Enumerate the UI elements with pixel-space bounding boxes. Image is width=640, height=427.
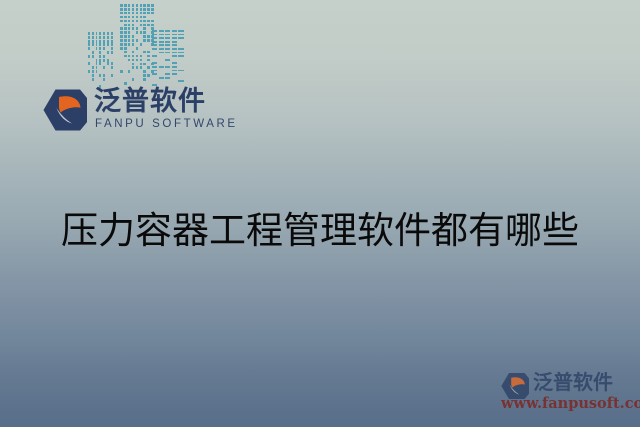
skyline-pixel (143, 12, 146, 15)
skyline-pixel (136, 47, 139, 50)
skyline-pixel (96, 32, 98, 35)
skyline-pixel (88, 62, 90, 65)
skyline-pixel (178, 55, 183, 57)
skyline-pixel (147, 74, 150, 77)
skyline-pixel (128, 43, 131, 46)
skyline-pixel (120, 20, 123, 23)
skyline-pixel (124, 12, 127, 15)
skyline-pixel (124, 31, 127, 34)
skyline-pixel (140, 59, 143, 62)
skyline-pixel (159, 41, 164, 43)
skyline-pixel (92, 51, 94, 54)
skyline-pixel (96, 43, 98, 46)
skyline-pixel (107, 32, 109, 35)
skyline-pixel (172, 37, 177, 39)
skyline-pixel (92, 43, 94, 46)
skyline-pixel (159, 30, 164, 32)
skyline-pixel (128, 39, 131, 42)
skyline-pixel (124, 51, 127, 54)
skyline-pixel (172, 73, 177, 75)
brand-logo-lockup: 泛普软件 FANPU SOFTWARE (42, 86, 222, 138)
skyline-pixel (111, 43, 113, 46)
skyline-pixel (147, 66, 150, 69)
skyline-pixel (103, 59, 105, 62)
skyline-pixel (111, 32, 113, 35)
skyline-pixel (128, 16, 131, 19)
skyline-pixel (147, 8, 150, 11)
skyline-pixel (124, 39, 127, 42)
skyline-pixel (132, 39, 135, 42)
skyline-pixel (136, 12, 139, 15)
skyline-pixel (120, 39, 123, 42)
skyline-pixel (120, 27, 123, 30)
skyline-pixel (143, 20, 146, 23)
skyline-pixel (99, 36, 101, 39)
skyline-pixel (152, 30, 157, 32)
skyline-pixel (151, 4, 154, 7)
pixel-city-skyline-graphic (86, 2, 188, 88)
skyline-pixel (128, 24, 131, 27)
skyline-pixel (103, 40, 105, 43)
skyline-pixel (111, 51, 113, 54)
skyline-pixel (128, 70, 131, 73)
skyline-pixel (152, 70, 157, 72)
skyline-pixel (111, 47, 113, 50)
skyline-pixel (136, 27, 139, 30)
skyline-pixel (103, 55, 105, 58)
skyline-pixel (159, 66, 164, 68)
page-title: 压力容器工程管理软件都有哪些 (0, 207, 640, 255)
skyline-pixel (111, 36, 113, 39)
skyline-pixel (132, 4, 135, 7)
skyline-pixel (111, 40, 113, 43)
skyline-pixel (107, 51, 109, 54)
skyline-pixel (103, 78, 105, 81)
skyline-pixel (128, 55, 131, 58)
skyline-pixel (140, 12, 143, 15)
skyline-pixel (143, 51, 146, 54)
skyline-pixel (96, 40, 98, 43)
skyline-pixel (132, 12, 135, 15)
skyline-pixel (88, 40, 90, 43)
skyline-pixel (172, 70, 177, 72)
skyline-pixel (128, 20, 131, 23)
skyline-pixel (152, 34, 157, 36)
skyline-pixel (136, 55, 139, 58)
watermark: 泛普软件 www.fanpusoft.com (500, 370, 636, 418)
skyline-pixel (165, 66, 170, 68)
skyline-pixel (140, 43, 143, 46)
poster-canvas: 泛普软件 FANPU SOFTWARE 压力容器工程管理软件都有哪些 泛普软件 … (0, 0, 640, 427)
skyline-pixel (140, 16, 143, 19)
skyline-pixel (124, 24, 127, 27)
skyline-pixel (107, 43, 109, 46)
skyline-pixel (172, 48, 177, 50)
skyline-pixel (96, 62, 98, 65)
skyline-pixel (128, 12, 131, 15)
skyline-pixel (132, 16, 135, 19)
skyline-pixel (172, 52, 177, 54)
skyline-pixel (152, 37, 157, 39)
skyline-pixel (132, 66, 135, 69)
skyline-pixel (178, 70, 183, 72)
skyline-pixel (107, 59, 109, 62)
skyline-pixel (178, 80, 183, 82)
skyline-pixel (147, 59, 150, 62)
skyline-pixel (151, 20, 154, 23)
skyline-pixel (143, 8, 146, 11)
skyline-pixel (99, 47, 101, 50)
skyline-pixel (103, 36, 105, 39)
skyline-pixel (159, 52, 164, 54)
skyline-pixel (172, 55, 177, 57)
skyline-pixel (159, 37, 164, 39)
skyline-pixel (152, 55, 157, 57)
skyline-pixel (120, 4, 123, 7)
skyline-pixel (165, 77, 170, 79)
skyline-pixel (178, 52, 183, 54)
skyline-pixel (172, 30, 177, 32)
skyline-pixel (143, 24, 146, 27)
skyline-pixel (124, 4, 127, 7)
skyline-pixel (92, 74, 94, 77)
skyline-pixel (178, 37, 183, 39)
skyline-pixel (136, 66, 139, 69)
skyline-pixel (99, 74, 101, 77)
skyline-pixel (140, 24, 143, 27)
skyline-pixel (152, 66, 157, 68)
skyline-pixel (124, 43, 127, 46)
skyline-pixel (88, 47, 90, 50)
skyline-pixel (124, 82, 127, 85)
skyline-pixel (88, 36, 90, 39)
skyline-pixel (140, 31, 143, 34)
skyline-pixel (96, 47, 98, 50)
skyline-pixel (120, 70, 123, 73)
skyline-pixel (92, 70, 94, 73)
skyline-pixel (143, 31, 146, 34)
skyline-pixel (140, 66, 143, 69)
skyline-pixel (88, 32, 90, 35)
skyline-pixel (124, 16, 127, 19)
skyline-pixel (124, 8, 127, 11)
skyline-pixel (92, 40, 94, 43)
skyline-pixel (152, 73, 157, 75)
skyline-pixel (159, 48, 164, 50)
skyline-pixel (88, 70, 90, 73)
skyline-pixel (107, 36, 109, 39)
skyline-pixel (159, 77, 164, 79)
skyline-pixel (124, 47, 127, 50)
skyline-pixel (99, 62, 101, 65)
skyline-pixel (124, 20, 127, 23)
skyline-pixel (140, 55, 143, 58)
skyline-pixel (143, 39, 146, 42)
skyline-pixel (151, 8, 154, 11)
skyline-pixel (172, 62, 177, 64)
skyline-pixel (147, 12, 150, 15)
skyline-pixel (99, 59, 101, 62)
skyline-pixel (165, 59, 170, 61)
skyline-pixel (107, 62, 109, 65)
skyline-pixel (172, 41, 177, 43)
skyline-pixel (120, 16, 123, 19)
skyline-pixel (143, 70, 146, 73)
skyline-pixel (96, 59, 98, 62)
skyline-pixel (165, 34, 170, 36)
skyline-pixel (124, 55, 127, 58)
skyline-pixel (151, 24, 154, 27)
skyline-pixel (107, 40, 109, 43)
brand-name-cn: 泛普软件 (94, 86, 206, 118)
skyline-pixel (165, 52, 170, 54)
skyline-pixel (140, 4, 143, 7)
skyline-pixel (143, 27, 146, 30)
skyline-pixel (132, 43, 135, 46)
skyline-pixel (136, 31, 139, 34)
skyline-pixel (103, 74, 105, 77)
skyline-pixel (147, 39, 150, 42)
skyline-pixel (172, 66, 177, 68)
skyline-pixel (165, 48, 170, 50)
skyline-pixel (151, 12, 154, 15)
skyline-pixel (140, 20, 143, 23)
skyline-pixel (99, 43, 101, 46)
skyline-pixel (152, 48, 157, 50)
skyline-pixel (120, 12, 123, 15)
skyline-pixel (132, 27, 135, 30)
skyline-pixel (132, 78, 135, 81)
skyline-pixel (96, 66, 98, 69)
skyline-pixel (147, 4, 150, 7)
skyline-pixel (143, 4, 146, 7)
skyline-pixel (132, 51, 135, 54)
skyline-pixel (92, 78, 94, 81)
skyline-pixel (128, 4, 131, 7)
skyline-pixel (159, 44, 164, 46)
skyline-pixel (103, 32, 105, 35)
skyline-pixel (147, 55, 150, 58)
skyline-pixel (96, 70, 98, 73)
skyline-pixel (136, 4, 139, 7)
skyline-pixel (143, 35, 146, 38)
skyline-pixel (143, 16, 146, 19)
skyline-pixel (120, 47, 123, 50)
skyline-pixel (99, 32, 101, 35)
skyline-pixel (132, 24, 135, 27)
skyline-pixel (111, 62, 113, 65)
skyline-pixel (120, 35, 123, 38)
skyline-pixel (88, 43, 90, 46)
skyline-pixel (165, 37, 170, 39)
skyline-pixel (152, 44, 157, 46)
skyline-pixel (165, 73, 170, 75)
skyline-pixel (172, 34, 177, 36)
skyline-pixel (172, 44, 177, 46)
skyline-pixel (165, 44, 170, 46)
skyline-pixel (128, 35, 131, 38)
skyline-pixel (92, 32, 94, 35)
skyline-pixel (143, 78, 146, 81)
skyline-pixel (132, 59, 135, 62)
skyline-pixel (178, 30, 183, 32)
watermark-url: www.fanpusoft.com (501, 395, 640, 412)
skyline-pixel (147, 35, 150, 38)
skyline-pixel (165, 41, 170, 43)
skyline-pixel (143, 74, 146, 77)
watermark-brand-cn: 泛普软件 (533, 370, 613, 394)
skyline-pixel (103, 66, 105, 69)
skyline-pixel (99, 51, 101, 54)
skyline-pixel (124, 35, 127, 38)
skyline-pixel (152, 62, 157, 64)
skyline-pixel (124, 27, 127, 30)
skyline-pixel (111, 74, 113, 77)
skyline-pixel (132, 55, 135, 58)
skyline-pixel (132, 63, 135, 66)
skyline-pixel (120, 43, 123, 46)
skyline-pixel (103, 47, 105, 50)
skyline-pixel (159, 34, 164, 36)
skyline-pixel (136, 39, 139, 42)
skyline-pixel (99, 55, 101, 58)
skyline-pixel (103, 43, 105, 46)
skyline-pixel (147, 51, 150, 54)
skyline-pixel (128, 27, 131, 30)
skyline-pixel (152, 41, 157, 43)
brand-name-en: FANPU SOFTWARE (95, 118, 238, 130)
skyline-pixel (120, 8, 123, 11)
skyline-pixel (178, 48, 183, 50)
skyline-pixel (136, 20, 139, 23)
skyline-pixel (178, 34, 183, 36)
skyline-pixel (143, 63, 146, 66)
skyline-pixel (111, 66, 113, 69)
skyline-pixel (120, 31, 123, 34)
skyline-pixel (132, 20, 135, 23)
skyline-pixel (92, 36, 94, 39)
skyline-pixel (99, 40, 101, 43)
skyline-pixel (140, 8, 143, 11)
skyline-pixel (92, 66, 94, 69)
skyline-pixel (92, 55, 94, 58)
skyline-pixel (136, 16, 139, 19)
skyline-pixel (88, 55, 90, 58)
skyline-pixel (132, 35, 135, 38)
skyline-pixel (132, 8, 135, 11)
skyline-pixel (136, 59, 139, 62)
skyline-pixel (140, 63, 143, 66)
skyline-pixel (128, 31, 131, 34)
skyline-pixel (165, 30, 170, 32)
skyline-pixel (136, 8, 139, 11)
fanpu-hexagon-logo-icon (42, 88, 88, 132)
skyline-pixel (147, 24, 150, 27)
skyline-pixel (147, 20, 150, 23)
skyline-pixel (128, 8, 131, 11)
skyline-pixel (96, 36, 98, 39)
skyline-pixel (128, 59, 131, 62)
